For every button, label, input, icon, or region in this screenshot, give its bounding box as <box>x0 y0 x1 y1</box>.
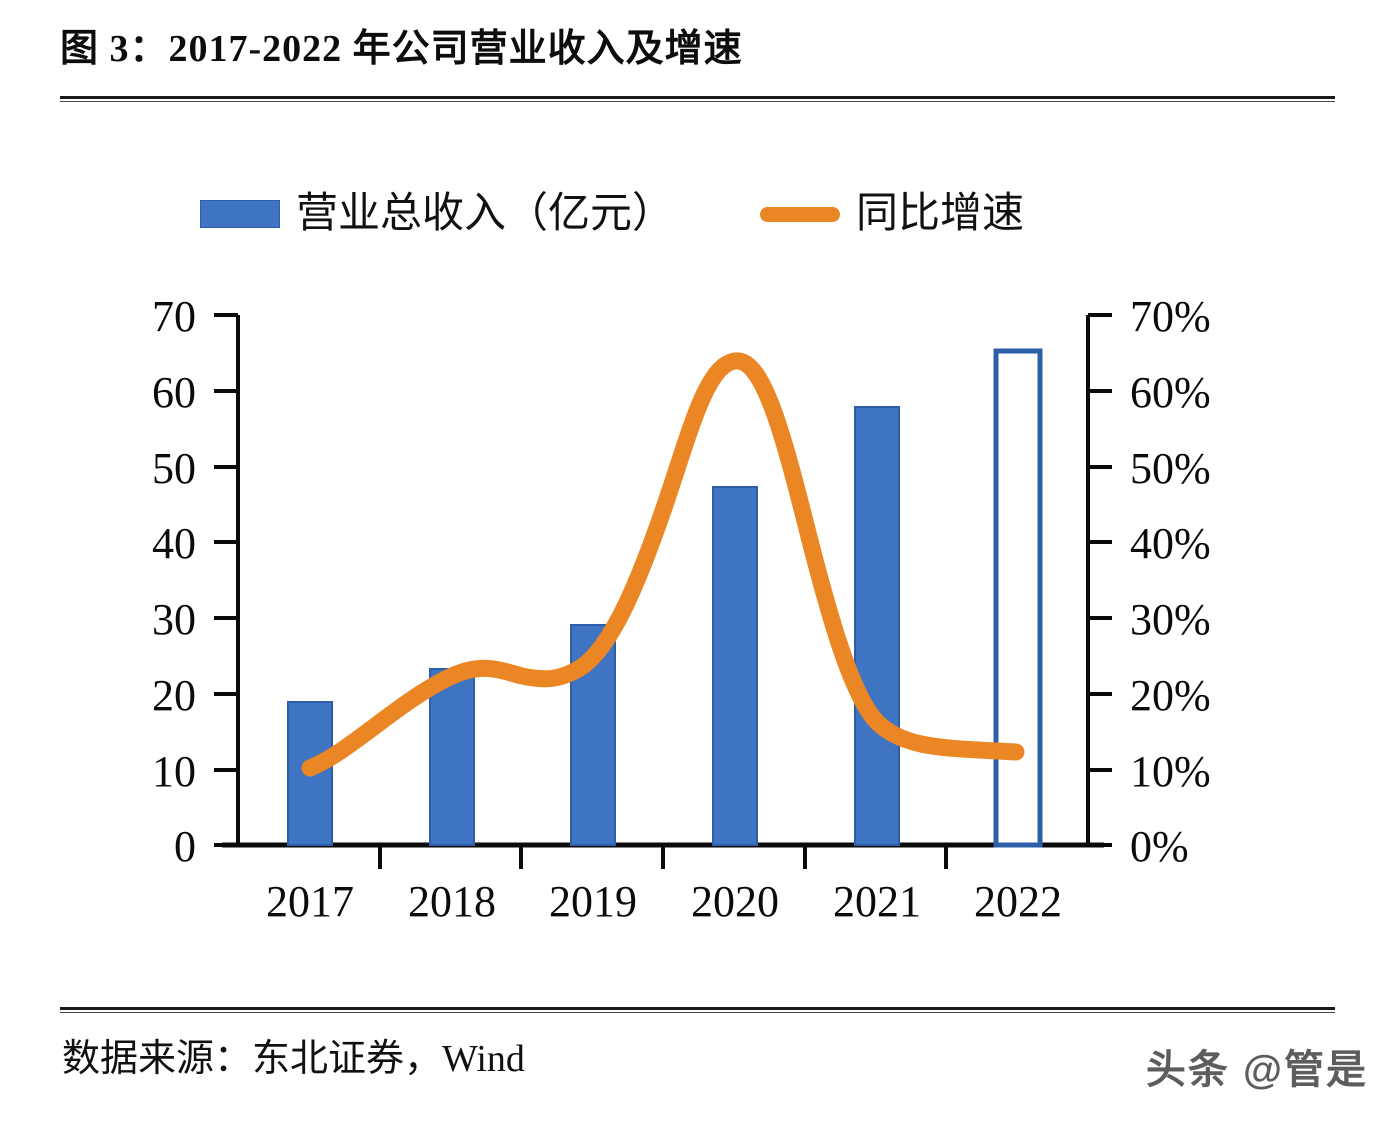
x-label-2021: 2021 <box>833 877 921 926</box>
category-ticks <box>380 845 946 869</box>
chart-svg: 70 60 50 40 30 20 10 0 70% <box>0 0 1392 1000</box>
bar-2022-forecast[interactable] <box>996 351 1040 845</box>
left-tick-20: 20 <box>152 671 196 720</box>
x-label-2018: 2018 <box>408 877 496 926</box>
footer-divider <box>60 1007 1335 1010</box>
source-note: 数据来源：东北证券，Wind <box>62 1032 525 1086</box>
line-series-growth <box>310 361 1016 768</box>
bar-2021[interactable] <box>855 407 899 845</box>
category-labels: 2017 2018 2019 2020 2021 2022 <box>266 877 1062 926</box>
left-tick-40: 40 <box>152 519 196 568</box>
watermark-label: 头条 @管是 <box>1146 1044 1368 1096</box>
x-label-2022: 2022 <box>974 877 1062 926</box>
right-tick-20: 20% <box>1130 671 1211 720</box>
x-label-2019: 2019 <box>549 877 637 926</box>
bar-2020[interactable] <box>713 487 757 845</box>
right-axis-ticks <box>1088 315 1112 845</box>
right-axis-tick-labels: 70% 60% 50% 40% 30% 20% 10% 0% <box>1130 292 1211 871</box>
left-tick-70: 70 <box>152 292 196 341</box>
bar-2018[interactable] <box>430 669 474 845</box>
left-tick-10: 10 <box>152 747 196 796</box>
left-tick-60: 60 <box>152 368 196 417</box>
right-tick-50: 50% <box>1130 444 1211 493</box>
right-tick-60: 60% <box>1130 368 1211 417</box>
left-axis-ticks <box>214 315 238 845</box>
chart-canvas: 70 60 50 40 30 20 10 0 70% <box>0 0 1392 1000</box>
right-tick-0: 0% <box>1130 822 1189 871</box>
right-tick-10: 10% <box>1130 747 1211 796</box>
right-tick-70: 70% <box>1130 292 1211 341</box>
bar-series-revenue <box>288 351 1040 845</box>
x-label-2020: 2020 <box>691 877 779 926</box>
figure-page: 图 3：2017-2022 年公司营业收入及增速 营业总收入（亿元） 同比增速 <box>0 0 1392 1124</box>
right-tick-40: 40% <box>1130 519 1211 568</box>
x-label-2017: 2017 <box>266 877 354 926</box>
growth-line-path[interactable] <box>310 361 1016 768</box>
footer-divider-thin <box>60 1012 1335 1013</box>
left-tick-0: 0 <box>174 822 196 871</box>
left-tick-50: 50 <box>152 444 196 493</box>
axis-lines <box>222 315 1104 845</box>
right-tick-30: 30% <box>1130 595 1211 644</box>
left-axis-tick-labels: 70 60 50 40 30 20 10 0 <box>152 292 196 871</box>
left-tick-30: 30 <box>152 595 196 644</box>
